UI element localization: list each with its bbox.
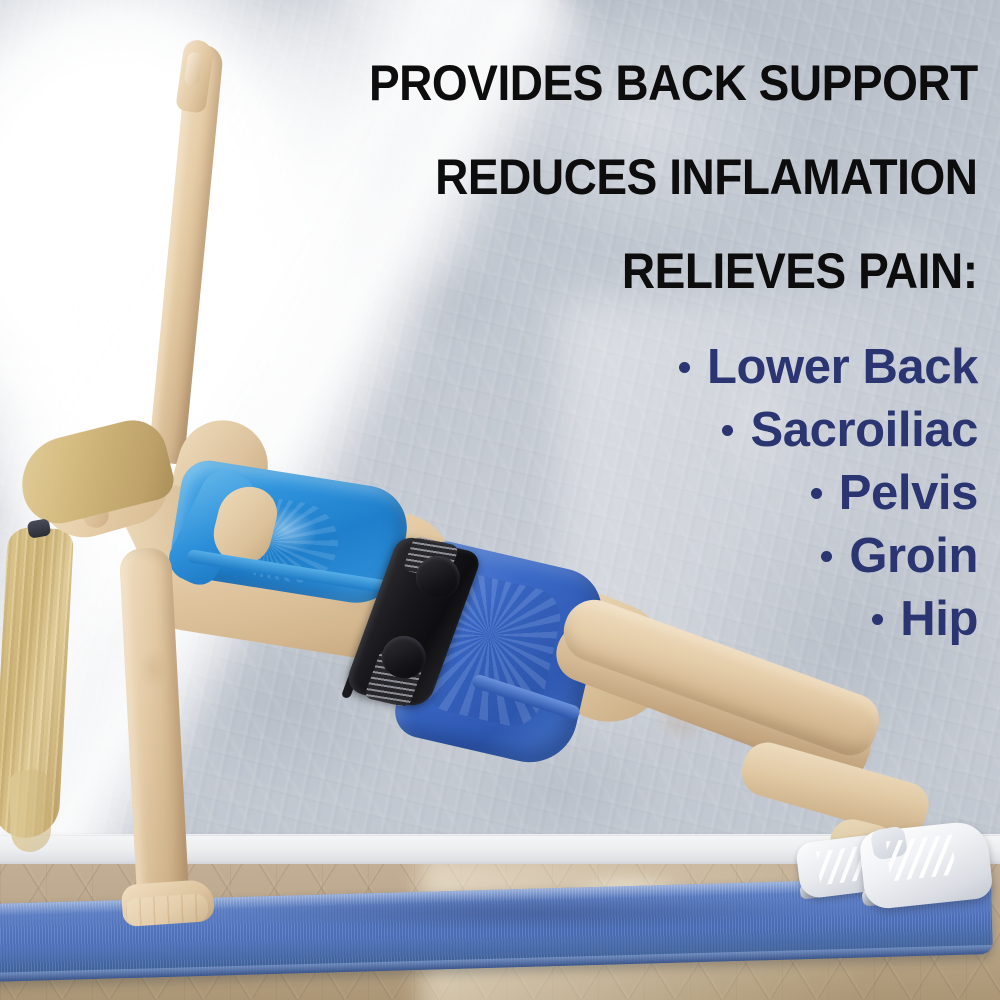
headline-line-1: PROVIDES BACK SUPPORT: [369, 58, 978, 108]
bullet-dot-icon: [821, 551, 832, 562]
list-item: Groin: [458, 525, 978, 588]
benefit-label: Groin: [849, 529, 978, 583]
front-shoe-laces: [886, 835, 956, 882]
body-shadow-on-mat: [120, 892, 940, 934]
ponytail-wisp: [8, 769, 52, 853]
headline-line-3: RELIEVES PAIN:: [622, 246, 978, 296]
list-item: Hip: [458, 588, 978, 651]
bullet-dot-icon: [872, 614, 883, 625]
benefit-label: Lower Back: [707, 340, 978, 394]
bullet-dot-icon: [722, 425, 733, 436]
benefit-list: Lower Back Sacroiliac Pelvis Groin Hip: [458, 336, 978, 651]
benefit-label: Sacroiliac: [750, 403, 978, 457]
list-item: Sacroiliac: [458, 399, 978, 462]
list-item: Lower Back: [458, 336, 978, 399]
bullet-dot-icon: [679, 362, 690, 373]
elbow-shading: [131, 639, 178, 699]
product-benefits-image: PROVIDES BACK SUPPORT REDUCES INFLAMATIO…: [0, 0, 1000, 1000]
headline-line-2: REDUCES INFLAMATION: [436, 152, 978, 202]
list-item: Pelvis: [458, 462, 978, 525]
benefit-label: Hip: [900, 592, 978, 646]
benefit-label: Pelvis: [839, 466, 978, 520]
bullet-dot-icon: [811, 488, 822, 499]
